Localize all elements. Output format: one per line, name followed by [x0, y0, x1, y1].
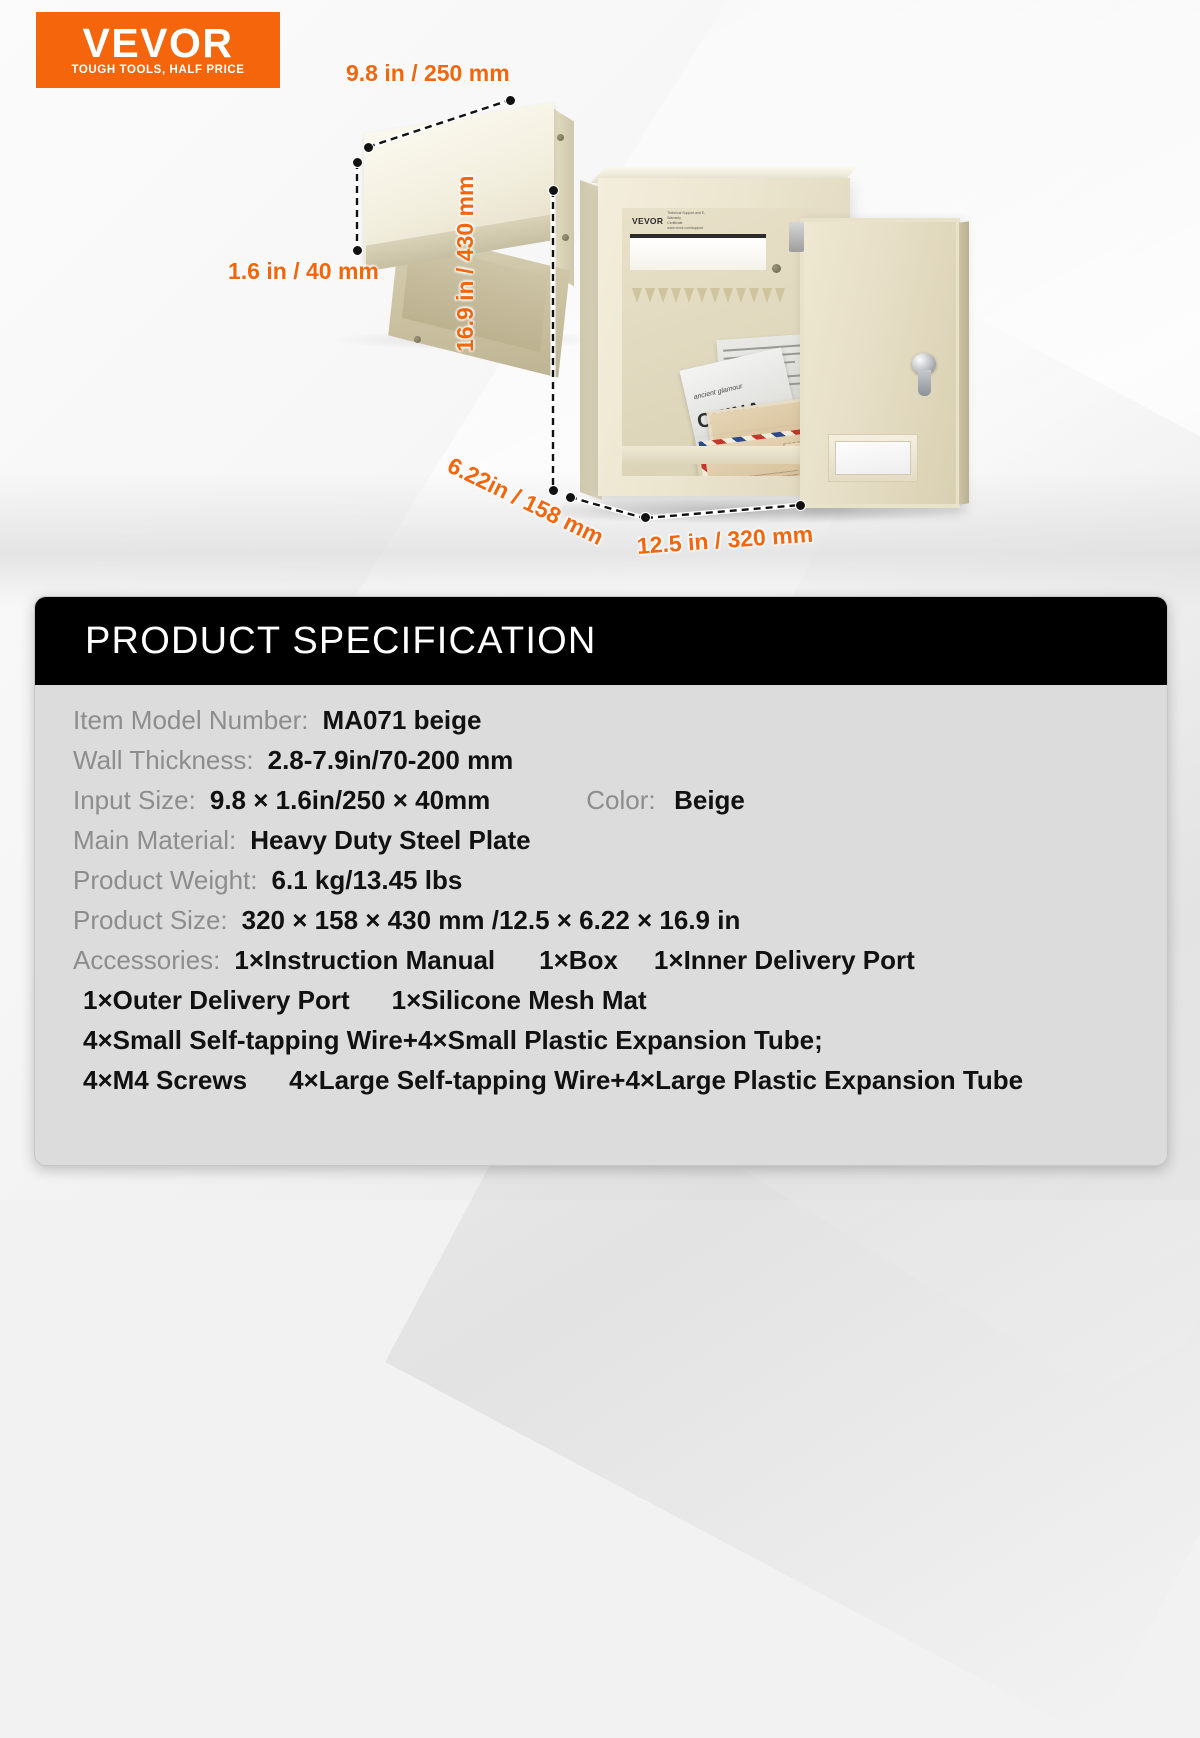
accessory-item: 4×M4 Screws [83, 1065, 247, 1096]
anti-theft-flaps [632, 288, 782, 304]
dimension-endpoint [548, 485, 559, 496]
dimension-label-input-height: 1.6 in / 40 mm [228, 258, 379, 285]
spec-row-input-size: Input Size: 9.8 × 1.6in/250 × 40mm Color… [73, 785, 1167, 816]
sticker-wordmark: VEVOR [632, 216, 663, 226]
door-edge [959, 221, 969, 504]
mailbox-door[interactable] [800, 218, 960, 508]
spec-value: 6.1 kg/13.45 lbs [272, 865, 463, 896]
sticker-fineprint: Technical Support and E-Warranty Certifi… [667, 211, 718, 231]
product-specification-panel: PRODUCT SPECIFICATION Item Model Number:… [34, 596, 1168, 1166]
spec-row-accessories-4: 4×M4 Screws 4×Large Self-tapping Wire+4×… [73, 1065, 1167, 1096]
page-title: PRODUCT SPECIFICATION [85, 620, 597, 663]
accessory-item: 4×Large Self-tapping Wire+4×Large Plasti… [289, 1065, 1023, 1096]
spec-label: Item Model Number: [73, 705, 309, 736]
interior-knob-icon [772, 264, 781, 273]
spec-panel-header: PRODUCT SPECIFICATION [35, 597, 1167, 685]
dimension-label-box-height: 16.9 in / 430 mm [452, 176, 479, 352]
spec-value: 9.8 × 1.6in/250 × 40mm [210, 785, 490, 816]
accessory-item: 1×Silicone Mesh Mat [392, 985, 647, 1016]
mail-slot-opening [630, 234, 766, 270]
spec-label: Main Material: [73, 825, 236, 856]
spec-row-model: Item Model Number: MA071 beige [73, 705, 1167, 736]
dimension-endpoint [640, 512, 651, 523]
product-photo: ancient glamour CHINA VEVOR Technical Su… [0, 0, 1200, 590]
spec-value: Beige [674, 785, 745, 815]
spec-label: Product Size: [73, 905, 228, 936]
mailbox-inner-shelf [622, 446, 827, 464]
spec-row-product-size: Product Size: 320 × 158 × 430 mm /12.5 ×… [73, 905, 1167, 936]
dimension-endpoint [548, 185, 559, 196]
accessory-item: 1×Instruction Manual [234, 945, 495, 976]
spec-label: Product Weight: [73, 865, 258, 896]
spec-row-color: Color: Beige [586, 785, 745, 816]
dimension-endpoint [795, 500, 806, 511]
mailbox-brand-sticker: VEVOR Technical Support and E-Warranty C… [632, 212, 718, 230]
dimension-endpoint [352, 245, 363, 256]
accessory-item: 1×Outer Delivery Port [83, 985, 350, 1016]
spec-label: Wall Thickness: [73, 745, 254, 776]
dimension-endpoint [565, 492, 576, 503]
spec-row-material: Main Material: Heavy Duty Steel Plate [73, 825, 1167, 856]
dimension-label-box-width: 12.5 in / 320 mm [636, 521, 814, 560]
spec-value: Heavy Duty Steel Plate [250, 825, 530, 856]
spec-value: 2.8-7.9in/70-200 mm [268, 745, 514, 776]
dimension-endpoint [352, 157, 363, 168]
screw-icon [557, 134, 564, 141]
lock-latch-icon [918, 370, 931, 396]
accessories-label: Accessories: [73, 945, 220, 976]
spec-label: Color: [586, 785, 655, 815]
accessory-item: 4×Small Self-tapping Wire+4×Small Plasti… [83, 1025, 823, 1056]
envelope-address-lines [722, 470, 799, 476]
accessory-item: 1×Inner Delivery Port [654, 945, 915, 976]
spec-row-weight: Product Weight: 6.1 kg/13.45 lbs [73, 865, 1167, 896]
spec-row-wall-thickness: Wall Thickness: 2.8-7.9in/70-200 mm [73, 745, 1167, 776]
spec-value: 320 × 158 × 430 mm /12.5 × 6.22 × 16.9 i… [242, 905, 741, 936]
spec-row-accessories-2: 1×Outer Delivery Port 1×Silicone Mesh Ma… [73, 985, 1167, 1016]
dimension-endpoint [363, 142, 374, 153]
spec-panel-body: Item Model Number: MA071 beige Wall Thic… [35, 685, 1167, 1166]
spec-row-accessories-1: Accessories: 1×Instruction Manual 1×Box … [73, 945, 1167, 976]
spec-label: Input Size: [73, 785, 196, 816]
spec-row-accessories-3: 4×Small Self-tapping Wire+4×Small Plasti… [73, 1025, 1167, 1056]
nameplate-holder [828, 434, 918, 482]
spec-value: MA071 beige [323, 705, 482, 736]
newspaper-subhead: ancient glamour [693, 383, 743, 401]
nameplate-window [835, 441, 911, 475]
screw-icon [414, 336, 421, 343]
dimension-label-input-width: 9.8 in / 250 mm [346, 60, 510, 87]
dimension-endpoint [505, 95, 516, 106]
accessory-item: 1×Box [539, 945, 618, 976]
hinge-icon [789, 222, 804, 252]
